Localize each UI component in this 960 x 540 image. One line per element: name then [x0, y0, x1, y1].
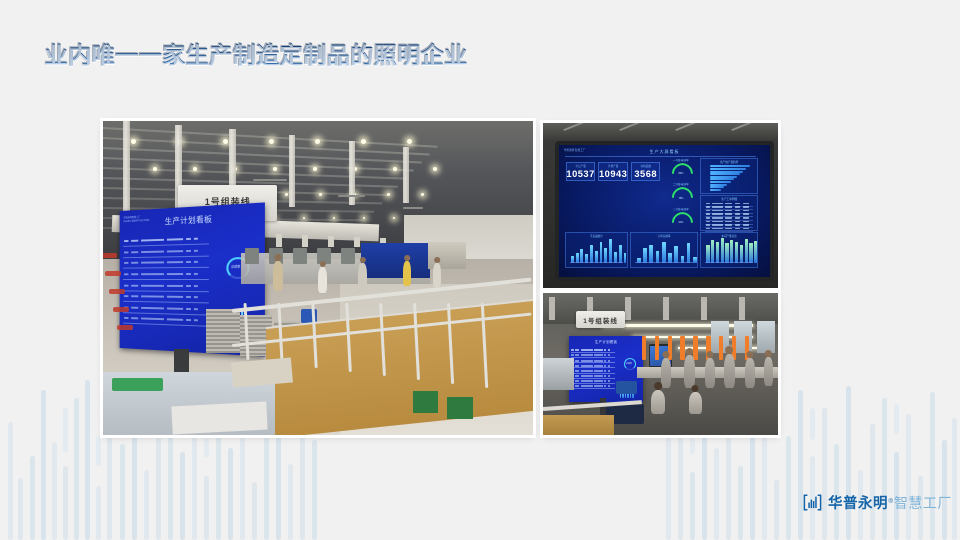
- dashboard-defect-bar: [687, 243, 691, 263]
- ceiling-lamp: [313, 167, 317, 171]
- ceiling-lamp: [273, 167, 277, 171]
- ceiling-lamp: [153, 167, 157, 171]
- factory-worker: [745, 358, 755, 388]
- kanban-table-cell: [575, 365, 579, 367]
- fence-green-panel: [413, 391, 439, 413]
- kanban-table-cell: [608, 354, 610, 356]
- side-conveyor: [543, 358, 574, 389]
- kanban-table-cell: [186, 308, 190, 310]
- kanban-table-cell: [581, 380, 593, 382]
- kanban-table-cell: [141, 296, 164, 298]
- factory-worker: [433, 263, 441, 287]
- decor-bar: [870, 424, 875, 540]
- kanban-table-cell: [124, 296, 128, 298]
- dashboard-defect-bar: [643, 248, 647, 263]
- kanban-title: 生产计划看板: [119, 211, 264, 229]
- dashboard-hbar: [710, 186, 724, 188]
- dashboard-table-cell: [735, 221, 741, 223]
- factory-worker: [318, 267, 327, 293]
- decor-bar: [786, 436, 791, 540]
- dashboard-table-panel-title: 生产工单明细: [701, 197, 757, 201]
- kanban-table-cell: [604, 380, 606, 382]
- dashboard-kpi-card: 今日产量10537: [566, 162, 595, 181]
- kanban-table-rule: [571, 352, 615, 353]
- decor-bar: [774, 480, 779, 540]
- dashboard-table-cell: [735, 203, 741, 205]
- dashboard-table-cell: [712, 228, 722, 230]
- slide-root: 业内唯一一家生产制造定制品的照明企业 1号组装线Assembly Line 1华…: [0, 0, 960, 540]
- dashboard-gauge-label: 二号线 稼动率: [666, 182, 697, 186]
- dashboard-capacity-bar: [745, 239, 748, 263]
- kanban-title: 生产计划看板: [569, 339, 644, 344]
- factory-worker: [273, 261, 283, 291]
- ceiling-column: [549, 297, 555, 320]
- ceiling-lamp: [193, 167, 197, 171]
- registered-trademark-icon: ®: [889, 499, 893, 505]
- worker-head: [707, 351, 714, 358]
- ceiling-lamp: [433, 167, 437, 171]
- blue-machine: [361, 243, 430, 278]
- dashboard-table-cell: [712, 224, 722, 226]
- dashboard-capacity-bar: [725, 243, 728, 262]
- kanban-table-rule: [571, 357, 615, 358]
- ceiling-support: [289, 135, 295, 207]
- dashboard-trend-bar: [595, 251, 598, 263]
- dashboard-trend-panel-title: 不良品统计: [566, 234, 627, 238]
- decor-bar: [798, 390, 803, 540]
- kanban-table-cell: [575, 385, 579, 387]
- dashboard-trend-bar: [600, 242, 603, 262]
- kanban-table-cell: [167, 273, 184, 275]
- dashboard-screen: 生产大屏看板华普永明 智慧工厂今日产量10537计划产量10943在制品数356…: [559, 145, 771, 277]
- kanban-table-cell: [194, 273, 198, 275]
- dashboard-trend-bar: [614, 252, 617, 263]
- kanban-table-rule: [571, 362, 615, 363]
- dashboard-table-cell: [743, 203, 749, 205]
- decor-bar: [18, 478, 23, 540]
- dashboard-table-cell: [735, 210, 741, 212]
- ceiling-lamp: [131, 139, 136, 144]
- factory-worker: [661, 358, 671, 388]
- dashboard-table-cell: [712, 210, 722, 212]
- kanban-table-cell: [167, 262, 184, 264]
- dashboard-hbar-panel: 各产线产量趋势: [700, 158, 758, 195]
- dashboard-table-cell: [735, 206, 741, 208]
- kanban-table-cell: [124, 241, 128, 243]
- kanban-table-cell: [186, 262, 190, 264]
- dashboard-table-cell: [743, 213, 749, 215]
- cable-bundle: [105, 271, 121, 276]
- decor-bar: [288, 464, 293, 540]
- kanban-table-cell: [141, 318, 164, 321]
- decor-bar: [156, 422, 161, 540]
- kanban-table-cell: [581, 370, 593, 372]
- kanban-table-cell: [186, 320, 190, 322]
- worker-head: [686, 348, 694, 356]
- kanban-table-cell: [131, 307, 138, 309]
- bench-equipment: [293, 248, 307, 264]
- kanban-table-cell: [594, 365, 602, 367]
- worker-head: [434, 257, 440, 263]
- bench-equipment: [341, 248, 355, 264]
- kanban-table-cell: [167, 285, 184, 287]
- dashboard-hbar: [710, 181, 731, 183]
- kanban-table-cell: [575, 354, 579, 356]
- kanban-table-rule: [571, 367, 615, 368]
- conveyor-hanger: [302, 235, 308, 247]
- kanban-table-cell: [594, 349, 602, 351]
- kanban-table-cell: [186, 273, 190, 275]
- kanban-table-rule: [123, 312, 209, 315]
- brand-name-sub: 智慧工厂: [894, 493, 952, 513]
- ceiling-lamp: [421, 193, 424, 196]
- kanban-table-cell: [186, 296, 190, 298]
- dashboard-table-cell: [725, 213, 732, 215]
- dashboard-monitor-bezel: 生产大屏看板华普永明 智慧工厂今日产量10537计划产量10943在制品数356…: [555, 141, 775, 281]
- kanban-table-rule: [123, 301, 209, 304]
- factory-window: [734, 321, 752, 352]
- dashboard-capacity-bar: [730, 240, 733, 263]
- decor-bar: [228, 448, 233, 540]
- kanban-table-cell: [124, 263, 128, 265]
- dashboard-table-cell: [712, 203, 722, 205]
- decor-bar: [822, 408, 827, 540]
- dashboard-defect-axis: [635, 262, 693, 263]
- kanban-table-cell: [604, 365, 606, 367]
- factory-window: [757, 321, 775, 352]
- dashboard-kpi-label: 在制品数: [641, 164, 651, 168]
- kanban-table-rule: [571, 378, 615, 379]
- ceiling-column: [701, 297, 707, 320]
- dashboard-capacity-axis: [705, 262, 753, 263]
- decor-bar: [180, 452, 185, 540]
- dashboard-defect-bar: [693, 257, 697, 262]
- worker-head: [765, 350, 771, 356]
- kanban-table-cell: [194, 250, 198, 252]
- dashboard-table-cell: [743, 210, 749, 212]
- cable-bundle: [109, 289, 125, 294]
- orange-fixture: [655, 336, 659, 360]
- dashboard-hbar-panel-title: 各产线产量趋势: [701, 160, 757, 164]
- bench-equipment: [245, 248, 259, 264]
- dashboard-gauge-value: 78%: [666, 197, 697, 200]
- dashboard-table-cell: [712, 217, 722, 219]
- kanban-table-cell: [594, 385, 602, 387]
- conveyor-hanger: [354, 237, 360, 247]
- kanban-table-cell: [608, 349, 610, 351]
- material-rack: [206, 309, 240, 353]
- dashboard-hbar: [710, 173, 740, 175]
- factory-worker: [684, 355, 695, 388]
- kanban-table-cell: [141, 262, 164, 264]
- dashboard-table-cell: [743, 228, 749, 230]
- worker-head: [692, 385, 699, 392]
- dashboard-table-cell: [725, 217, 732, 219]
- dashboard-table-cell: [725, 203, 732, 205]
- kanban-table-rule: [571, 373, 615, 374]
- decor-bar: [204, 476, 209, 540]
- assembly-line-sign: 1号组装线: [576, 311, 625, 328]
- kanban-table-cell: [124, 252, 128, 254]
- ceiling-lamp: [223, 139, 228, 144]
- kanban-table-cell: [575, 349, 579, 351]
- dashboard-table-cell: [735, 224, 741, 226]
- decor-bar: [930, 392, 935, 540]
- decor-bar: [8, 422, 13, 540]
- decor-bar: [952, 418, 957, 540]
- kanban-table-cell: [594, 354, 602, 356]
- decor-bar: [63, 466, 68, 540]
- decor-bar: [252, 482, 257, 540]
- decor-bar: [846, 386, 851, 540]
- decor-bar-segment: [810, 408, 815, 440]
- brand-logo: 华普永明 ® 智慧工厂: [803, 492, 952, 513]
- factory-worker: [403, 261, 411, 286]
- green-box: [112, 378, 164, 391]
- dashboard-table-cell: [743, 206, 749, 208]
- dashboard-brand: 华普永明 智慧工厂: [564, 149, 585, 152]
- kanban-table-cell: [608, 380, 610, 382]
- dashboard-kpi-value: 10537: [566, 169, 594, 179]
- kanban-table-cell: [194, 285, 198, 287]
- kanban-table-cell: [141, 273, 164, 275]
- kanban-table-cell: [571, 349, 573, 351]
- decor-bar: [120, 444, 125, 540]
- factory-worker: [705, 358, 715, 388]
- kanban-table-cell: [131, 251, 138, 253]
- dashboard-table-cell: [712, 213, 722, 215]
- conveyor-hanger: [328, 236, 334, 247]
- kanban-table-cell: [124, 274, 128, 276]
- brand-logo-text: 华普永明 ® 智慧工厂: [828, 492, 952, 513]
- kanban-table-rule: [571, 383, 615, 384]
- kanban-table-cell: [194, 296, 198, 298]
- cable-bundle: [113, 307, 129, 312]
- kanban-table-cell: [575, 360, 579, 362]
- dashboard-table-cell: [743, 224, 749, 226]
- decor-bar: [264, 430, 269, 540]
- dashboard-table-panel: 生产工单明细: [700, 195, 758, 232]
- decor-bar: [882, 398, 887, 540]
- dashboard-capacity-bar: [706, 245, 709, 263]
- kanban-table-cell: [131, 274, 138, 276]
- kanban-donut-label: 达成率: [624, 362, 634, 365]
- ceiling-lamp: [387, 193, 390, 196]
- kanban-table-cell: [131, 296, 138, 298]
- decor-bar: [714, 448, 719, 540]
- kanban-table-cell: [581, 375, 593, 377]
- dashboard-capacity-bar: [735, 242, 738, 263]
- kanban-table-cell: [604, 375, 606, 377]
- kanban-table-cell: [167, 319, 184, 322]
- kanban-table-cell: [604, 360, 606, 362]
- dashboard-trend-bar: [580, 249, 583, 262]
- decor-bar: [74, 398, 79, 540]
- fence-green-panel: [447, 397, 473, 419]
- kanban-table-cell: [124, 285, 128, 287]
- ceiling-lamp: [361, 139, 366, 144]
- ceiling-column: [663, 297, 669, 320]
- dashboard-table-cell: [735, 213, 741, 215]
- kanban-table-cell: [594, 370, 602, 372]
- kanban-table-rule: [123, 290, 209, 292]
- kanban-table-rule: [123, 279, 209, 280]
- page-title: 业内唯一一家生产制造定制品的照明企业: [45, 41, 468, 70]
- dashboard-table-cell: [743, 221, 749, 223]
- kanban-table-cell: [124, 318, 128, 320]
- dashboard-defect-bar: [662, 242, 666, 263]
- kanban-table-rule: [123, 268, 209, 270]
- dashboard-capacity-bar: [749, 243, 752, 263]
- kanban-table-cell: [594, 380, 602, 382]
- dashboard-table-cell: [706, 221, 710, 223]
- kanban-table-cell: [186, 238, 190, 240]
- kanban-table-cell: [194, 238, 198, 240]
- dashboard-table-cell: [706, 206, 710, 208]
- dashboard-trend-bar: [619, 245, 622, 263]
- dashboard-defect-bar: [674, 246, 678, 262]
- decor-bar-segment: [63, 408, 68, 452]
- ceiling-lamp: [407, 139, 412, 144]
- kanban-table-cell: [594, 375, 602, 377]
- dashboard-defect-bar: [656, 251, 660, 263]
- dashboard-gauge-label: 三号线 稼动率: [666, 207, 697, 211]
- ceiling-lamp: [285, 193, 288, 196]
- dashboard-trend-bar: [604, 248, 607, 263]
- dashboard-table-cell: [735, 217, 741, 219]
- kanban-table-cell: [604, 385, 606, 387]
- dashboard-table-cell: [725, 210, 732, 212]
- dashboard-table-cell: [706, 203, 710, 205]
- kanban-table-cell: [194, 308, 198, 310]
- conveyor-hanger: [276, 234, 282, 247]
- dashboard-hbar: [710, 168, 746, 170]
- dashboard-trend-bar: [624, 253, 627, 262]
- ceiling-column: [739, 297, 745, 320]
- dashboard-trend-bar: [576, 253, 579, 263]
- dashboard-trend-bar: [590, 245, 593, 262]
- ceiling-support: [123, 121, 130, 217]
- ceiling-column: [625, 297, 631, 320]
- kanban-table-cell: [581, 349, 593, 351]
- dashboard-table-cell: [712, 206, 722, 208]
- kanban-table-cell: [186, 285, 190, 287]
- cable-bundle: [117, 325, 133, 330]
- ceiling-lamp: [393, 167, 397, 171]
- decor-bar: [52, 442, 57, 540]
- production-dashboard-monitor-photo: 生产大屏看板华普永明 智慧工厂今日产量10537计划产量10943在制品数356…: [543, 123, 778, 288]
- kanban-table-cell: [141, 251, 164, 253]
- kanban-table-cell: [167, 250, 184, 252]
- paper-stack: [171, 401, 267, 434]
- assembly-line-workers-photo: 1号组装线生产计划看板达成率: [543, 293, 778, 435]
- assembly-line-sign-cn: 1号组装线: [583, 315, 618, 325]
- factory-worker: [358, 263, 367, 290]
- kanban-table-rule: [123, 323, 209, 327]
- decor-bar: [312, 440, 317, 540]
- kanban-table-cell: [186, 250, 190, 252]
- decor-bar: [738, 466, 743, 540]
- kanban-table-cell: [194, 320, 198, 322]
- kanban-table-cell: [131, 285, 138, 287]
- cardboard-box: [231, 357, 293, 387]
- dashboard-capacity-bar: [716, 242, 719, 262]
- dashboard-trend-panel: 不良品统计: [565, 232, 628, 268]
- ceiling-lamp: [319, 193, 322, 196]
- dashboard-table-cell: [743, 217, 749, 219]
- ceiling-support: [403, 147, 409, 203]
- decor-bar: [30, 456, 35, 540]
- factory-worker-seated: [689, 392, 702, 414]
- orange-fixture: [680, 336, 684, 360]
- decor-bar: [750, 420, 755, 540]
- dashboard-kpi-card: 在制品数3568: [631, 162, 660, 181]
- factory-worker: [764, 357, 773, 386]
- kanban-table-rule: [123, 256, 209, 259]
- worker-head: [747, 351, 754, 358]
- ceiling-lamp: [315, 139, 320, 144]
- factory-worker-seated: [651, 390, 665, 414]
- dashboard-table-cell: [706, 228, 710, 230]
- kanban-table-cell: [131, 262, 138, 264]
- blue-tool-case: [616, 381, 637, 394]
- kanban-table-cell: [141, 239, 164, 242]
- kanban-table-cell: [581, 365, 593, 367]
- ceiling-fan: [403, 207, 423, 209]
- dashboard-kpi-value: 3568: [634, 169, 657, 179]
- dashboard-table-cell: [706, 224, 710, 226]
- decor-bar: [942, 440, 947, 540]
- kanban-table-cell: [167, 239, 184, 242]
- decor-bar-segment: [96, 436, 101, 466]
- dashboard-table-cell: [735, 228, 741, 230]
- worker-head: [654, 382, 662, 390]
- kanban-table-rule: [571, 388, 615, 389]
- dashboard-table-cell: [725, 206, 732, 208]
- kanban-table-cell: [131, 318, 138, 320]
- dashboard-defect-bar: [649, 245, 653, 263]
- kanban-table-cell: [575, 380, 579, 382]
- light-tube: [603, 324, 753, 327]
- kanban-table-cell: [604, 349, 606, 351]
- kanban-table-cell: [581, 360, 593, 362]
- kanban-table-rule: [123, 244, 209, 247]
- cable-bundle: [103, 253, 117, 258]
- kanban-table-cell: [131, 240, 138, 242]
- worker-head: [404, 255, 410, 261]
- dashboard-defect-panel: 订单完成率: [630, 232, 698, 268]
- dashboard-trend-axis: [570, 262, 623, 263]
- dashboard-kpi-card: 计划产量10943: [598, 162, 627, 181]
- kanban-table-cell: [575, 370, 579, 372]
- kanban-table-cell: [581, 385, 593, 387]
- kanban-table-cell: [608, 360, 610, 362]
- dashboard-table-cell: [725, 221, 732, 223]
- kanban-table-cell: [604, 370, 606, 372]
- orange-fixture: [693, 336, 697, 360]
- dashboard-gauge-label: 一号线 稼动率: [666, 158, 697, 162]
- decor-bar-segment: [41, 396, 46, 422]
- kanban-table-cell: [594, 360, 602, 362]
- decor-bar-segment: [894, 404, 899, 434]
- dashboard-defect-panel-title: 订单完成率: [631, 234, 697, 238]
- kanban-table-cell: [167, 308, 184, 310]
- kanban-table-cell: [575, 375, 579, 377]
- dashboard-capacity-bar: [711, 240, 714, 262]
- dashboard-table-cell: [706, 210, 710, 212]
- dashboard-kpi-value: 10943: [599, 169, 627, 179]
- decor-bar: [85, 380, 90, 540]
